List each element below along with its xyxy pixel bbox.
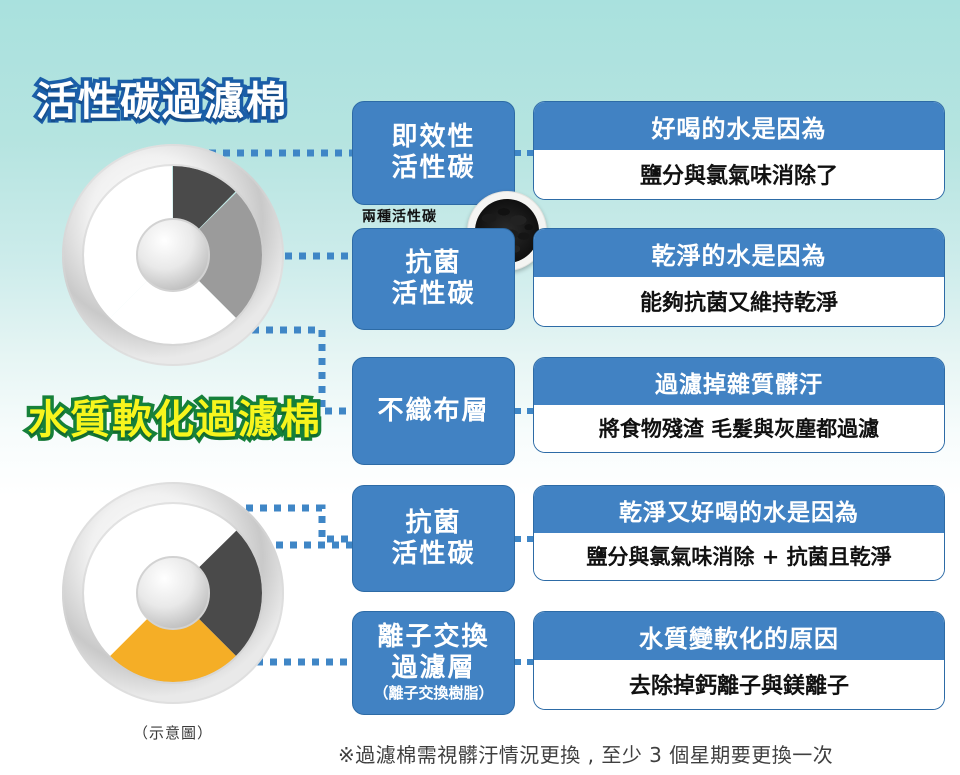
card-header: 乾淨的水是因為	[534, 229, 944, 277]
label-instant-activated-carbon[interactable]: 即效性 活性碳	[352, 101, 515, 205]
label-line-2: 活性碳	[391, 539, 475, 570]
label-ion-exchange[interactable]: 離子交換 過濾層 （離子交換樹脂）	[352, 611, 515, 715]
card-ion-exchange[interactable]: 水質變軟化的原因 去除掉鈣離子與鎂離子	[533, 611, 945, 710]
label-line-2: 過濾層	[391, 653, 475, 684]
card-antibacterial-activated-carbon[interactable]: 乾淨的水是因為 能夠抗菌又維持乾淨	[533, 228, 945, 327]
label-antibacterial-activated-carbon[interactable]: 抗菌 活性碳	[352, 228, 515, 330]
section-title-water-softening-text: 水質軟化過濾棉	[28, 396, 322, 443]
section-title-activated-carbon: 活性碳過濾棉	[36, 82, 288, 122]
card-body: 鹽分與氯氣味消除 + 抗菌且乾淨	[534, 533, 944, 580]
label-antibacterial-activated-carbon-2[interactable]: 抗菌 活性碳	[352, 485, 515, 592]
label-line-1: 抗菌	[405, 248, 461, 279]
label-line-2: 活性碳	[391, 153, 475, 184]
label-line-1: 不織布層	[377, 396, 489, 427]
card-instant-activated-carbon[interactable]: 好喝的水是因為 鹽分與氯氣味消除了	[533, 101, 945, 200]
card-body: 去除掉鈣離子與鎂離子	[534, 660, 944, 709]
filter-wheel-upper	[58, 140, 288, 370]
label-line-1: 離子交換	[377, 622, 489, 653]
card-body: 能夠抗菌又維持乾淨	[534, 277, 944, 326]
card-header: 水質變軟化的原因	[534, 612, 944, 660]
wheel-caption: （示意圖）	[58, 722, 288, 743]
card-body: 鹽分與氯氣味消除了	[534, 150, 944, 199]
label-non-woven-fabric[interactable]: 不織布層	[352, 357, 515, 465]
section-title-water-softening: 水質軟化過濾棉	[28, 400, 322, 440]
card-body: 將食物殘渣 毛髮與灰塵都過濾	[534, 405, 944, 452]
section-title-activated-carbon-text: 活性碳過濾棉	[36, 78, 288, 125]
card-non-woven-fabric[interactable]: 過濾掉雜質髒汙 將食物殘渣 毛髮與灰塵都過濾	[533, 357, 945, 453]
card-header: 過濾掉雜質髒汙	[534, 358, 944, 405]
filter-wheel-lower	[58, 478, 288, 708]
infographic-canvas: .dl{stroke:#3f86c6;stroke-width:7;stroke…	[0, 0, 960, 775]
card-antibacterial-activated-carbon-2[interactable]: 乾淨又好喝的水是因為 鹽分與氯氣味消除 + 抗菌且乾淨	[533, 485, 945, 581]
label-sublabel: （離子交換樹脂）	[373, 684, 493, 704]
card-header: 好喝的水是因為	[534, 102, 944, 150]
label-line-1: 抗菌	[405, 508, 461, 539]
label-line-1: 即效性	[391, 122, 475, 153]
footer-note: ※過濾棉需視髒汙情況更換 , 至少 3 個星期要更換一次	[338, 739, 833, 768]
label-line-2: 活性碳	[391, 279, 475, 310]
carbon-photo-caption: 兩種活性碳	[362, 206, 437, 226]
card-header: 乾淨又好喝的水是因為	[534, 486, 944, 533]
